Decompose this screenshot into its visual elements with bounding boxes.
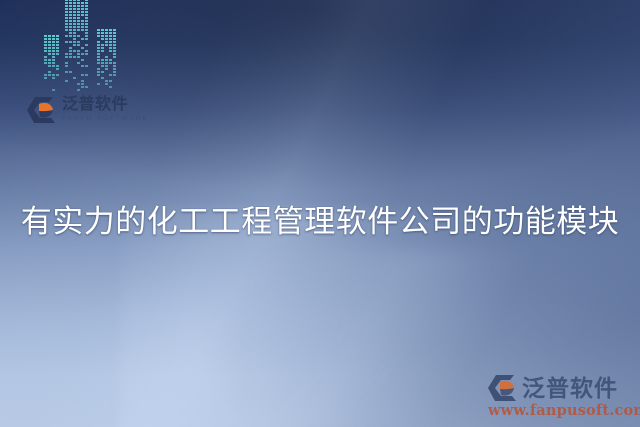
right-tower	[97, 29, 116, 92]
watermark-name-cn: 泛普软件	[522, 377, 618, 400]
fanpu-logo-mark-icon	[27, 96, 57, 124]
banner-image: 泛普软件 FANPU SOFTWARE 有实力的化工工程管理软件公司的功能模块 …	[0, 0, 640, 427]
brand-logo-name-cn: 泛普软件	[62, 97, 149, 113]
brand-logo: 泛普软件 FANPU SOFTWARE	[27, 96, 149, 124]
brand-logo-wordmark: 泛普软件 FANPU SOFTWARE	[62, 97, 149, 123]
watermark-logo-row: 泛普软件	[488, 374, 636, 402]
center-tower	[65, 0, 88, 92]
fanpu-logo-mark-icon	[488, 374, 518, 402]
watermark-url: www.fanpusoft.com	[488, 403, 636, 419]
city-buildings-icon	[44, 26, 122, 92]
brand-logo-name-en: FANPU SOFTWARE	[62, 116, 149, 123]
watermark: 泛普软件 www.fanpusoft.com	[488, 374, 636, 419]
page-title: 有实力的化工工程管理软件公司的功能模块	[0, 199, 640, 245]
left-tower	[44, 35, 59, 92]
